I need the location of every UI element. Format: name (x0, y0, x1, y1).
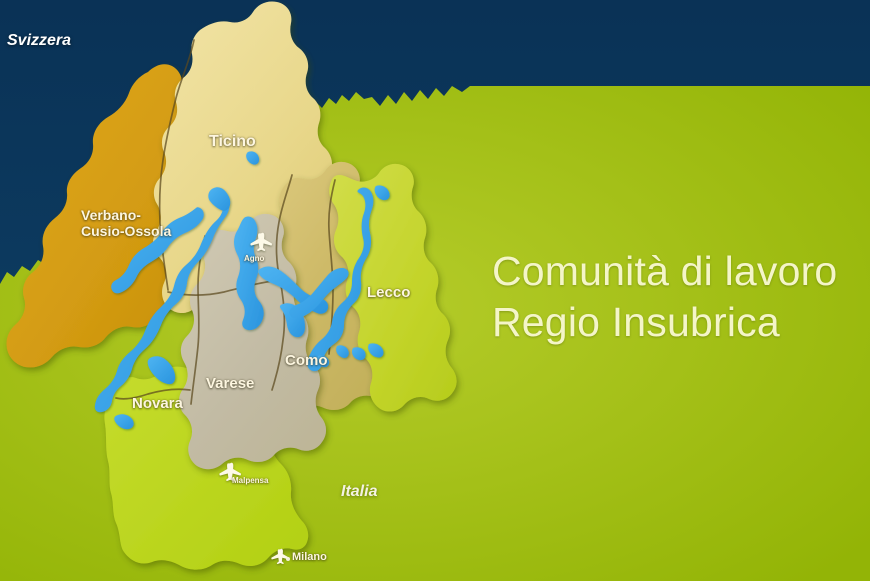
banner-title-line-2: Regio Insubrica (492, 297, 837, 348)
banner-title: Comunità di lavoro Regio Insubrica (492, 246, 837, 348)
map-banner: Svizzera Italia Ticino Verbano- Cusio-Os… (0, 0, 870, 581)
banner-title-line-1: Comunità di lavoro (492, 246, 837, 297)
